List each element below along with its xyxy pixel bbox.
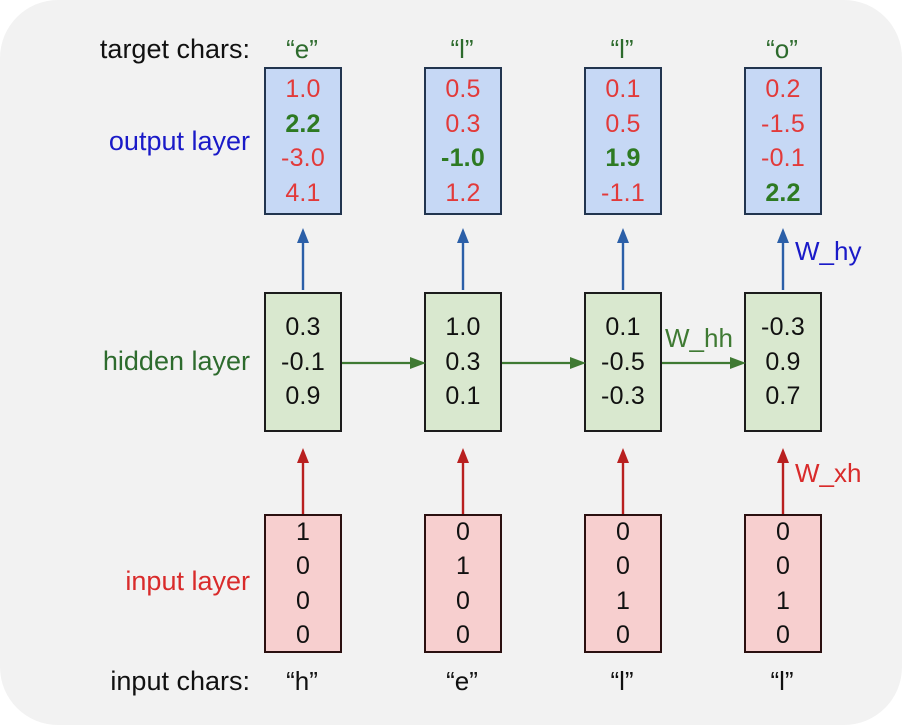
hidden-value: 0.7 [765,379,800,414]
arrow-input-to-hidden-0 [293,448,313,514]
target-char-3: “o” [722,36,842,62]
input-value: 1 [456,549,470,584]
input-value: 0 [776,618,790,653]
input-value: 0 [616,515,630,550]
hidden-box-3: -0.3 0.9 0.7 [744,292,822,432]
target-char-2: “l” [562,36,682,62]
output-box-2: 0.1 0.5 1.9 -1.1 [584,67,662,215]
output-value-highlighted: 1.9 [605,141,640,176]
hidden-box-2: 0.1 -0.5 -0.3 [584,292,662,432]
output-value-highlighted: 2.2 [285,107,320,142]
input-value: 0 [456,618,470,653]
hidden-value: 0.1 [605,310,640,345]
output-value: -0.1 [761,141,805,176]
arrow-hidden-to-output-2 [613,228,633,290]
input-box-1: 0 1 0 0 [424,514,502,653]
output-box-1: 0.5 0.3 -1.0 1.2 [424,67,502,215]
input-value: 0 [456,515,470,550]
label-input-chars: input chars: [110,668,250,695]
arrow-input-to-hidden-1 [453,448,473,514]
output-value: 1.2 [445,176,480,211]
row-label-column: target chars: output layer hidden layer … [0,0,250,725]
hidden-value: -0.3 [601,379,645,414]
arrow-hidden-to-output-0 [293,228,313,290]
hidden-box-1: 1.0 0.3 0.1 [424,292,502,432]
arrow-hidden-to-output-1 [453,228,473,290]
input-value: 0 [776,515,790,550]
input-value: 0 [296,549,310,584]
rnn-diagram: target chars: output layer hidden layer … [0,0,902,725]
output-value-highlighted: -1.0 [441,141,485,176]
arrow-hidden-recurrent-0 [342,354,426,372]
input-box-0: 1 0 0 0 [264,514,342,653]
output-value: -3.0 [281,141,325,176]
weight-label-w-hy: W_hy [795,238,861,264]
output-box-0: 1.0 2.2 -3.0 4.1 [264,67,342,215]
input-value: 0 [616,618,630,653]
arrow-hidden-recurrent-1 [502,354,586,372]
input-char-0: “h” [242,668,362,694]
input-char-2: “l” [562,668,682,694]
output-value: -1.1 [601,176,645,211]
hidden-value: -0.1 [281,345,325,380]
hidden-value: 0.3 [285,310,320,345]
input-value: 0 [296,584,310,619]
input-value: 0 [616,549,630,584]
output-box-3: 0.2 -1.5 -0.1 2.2 [744,67,822,215]
input-value: 1 [616,584,630,619]
input-value: 0 [456,584,470,619]
label-hidden-layer: hidden layer [103,348,250,375]
label-target-chars: target chars: [100,36,250,63]
input-box-2: 0 0 1 0 [584,514,662,653]
output-value: -1.5 [761,107,805,142]
output-value: 4.1 [285,176,320,211]
arrow-hidden-to-output-3 [773,228,793,290]
arrow-input-to-hidden-3 [773,448,793,514]
output-value: 1.0 [285,72,320,107]
label-output-layer: output layer [109,128,250,155]
hidden-value: -0.3 [761,310,805,345]
hidden-value: 0.1 [445,379,480,414]
target-char-0: “e” [242,36,362,62]
input-value: 0 [296,618,310,653]
input-value: 0 [776,549,790,584]
output-value: 0.5 [605,107,640,142]
hidden-value: 1.0 [445,310,480,345]
output-value: 0.1 [605,72,640,107]
arrow-input-to-hidden-2 [613,448,633,514]
arrow-hidden-recurrent-2 [662,354,746,372]
hidden-value: 0.9 [285,379,320,414]
output-value: 0.5 [445,72,480,107]
input-value: 1 [296,515,310,550]
hidden-box-0: 0.3 -0.1 0.9 [264,292,342,432]
hidden-value: -0.5 [601,345,645,380]
output-value: 0.3 [445,107,480,142]
input-value: 1 [776,584,790,619]
weight-label-w-xh: W_xh [795,460,861,486]
input-char-3: “l” [722,668,842,694]
input-char-1: “e” [402,668,522,694]
hidden-value: 0.3 [445,345,480,380]
target-char-1: “l” [402,36,522,62]
label-input-layer: input layer [125,568,250,595]
input-box-3: 0 0 1 0 [744,514,822,653]
weight-label-w-hh: W_hh [665,325,733,351]
output-value-highlighted: 2.2 [765,176,800,211]
output-value: 0.2 [765,72,800,107]
hidden-value: 0.9 [765,345,800,380]
